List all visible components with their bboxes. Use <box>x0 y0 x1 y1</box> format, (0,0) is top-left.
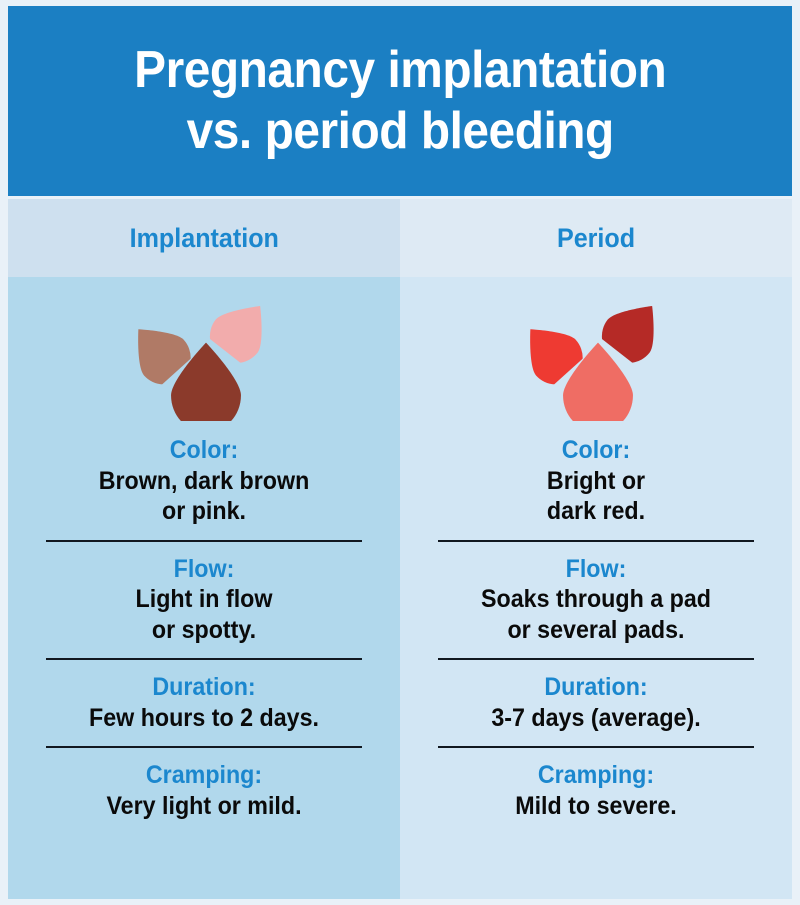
fact-label: Color: <box>50 435 359 466</box>
fact-value: 3-7 days (average). <box>442 703 751 734</box>
fact-divider <box>438 746 754 748</box>
column-implantation: Implantation <box>8 199 400 899</box>
page-title: Pregnancy implantation vs. period bleedi… <box>116 40 685 162</box>
column-header-label: Implantation <box>129 223 278 254</box>
fact-value: Bright or dark red. <box>442 466 751 527</box>
fact-label: Cramping: <box>442 760 751 791</box>
drop-salmon-red-icon <box>560 341 636 421</box>
drop-dark-brown-icon <box>168 341 244 421</box>
blood-droplets-period <box>516 299 676 427</box>
facts-list-period: Color: Bright or dark red. Flow: Soaks t… <box>430 435 762 821</box>
fact-label: Duration: <box>50 672 359 703</box>
fact-value: Mild to severe. <box>442 791 751 822</box>
fact-color: Color: Bright or dark red. <box>430 435 762 527</box>
fact-label: Flow: <box>442 554 751 585</box>
fact-divider <box>46 658 362 660</box>
fact-label: Color: <box>442 435 751 466</box>
fact-value: Brown, dark brown or pink. <box>50 466 359 527</box>
fact-flow: Flow: Light in flow or spotty. <box>38 554 370 646</box>
fact-label: Flow: <box>50 554 359 585</box>
fact-duration: Duration: 3-7 days (average). <box>430 672 762 733</box>
fact-value: Very light or mild. <box>50 791 359 822</box>
fact-value: Soaks through a pad or several pads. <box>442 584 751 645</box>
fact-divider <box>46 746 362 748</box>
fact-divider <box>46 540 362 542</box>
fact-duration: Duration: Few hours to 2 days. <box>38 672 370 733</box>
column-header-period: Period <box>400 199 792 277</box>
fact-divider <box>438 540 754 542</box>
fact-label: Duration: <box>442 672 751 703</box>
comparison-columns: Implantation <box>8 199 792 899</box>
column-period: Period <box>400 199 792 899</box>
column-body-period: Color: Bright or dark red. Flow: Soaks t… <box>400 277 792 899</box>
infographic-root: Pregnancy implantation vs. period bleedi… <box>0 0 800 905</box>
fact-cramping: Cramping: Mild to severe. <box>430 760 762 821</box>
blood-droplets-implantation <box>124 299 284 427</box>
fact-label: Cramping: <box>50 760 359 791</box>
fact-value: Few hours to 2 days. <box>50 703 359 734</box>
column-body-implantation: Color: Brown, dark brown or pink. Flow: … <box>8 277 400 899</box>
column-header-implantation: Implantation <box>8 199 400 277</box>
fact-color: Color: Brown, dark brown or pink. <box>38 435 370 527</box>
fact-flow: Flow: Soaks through a pad or several pad… <box>430 554 762 646</box>
title-banner: Pregnancy implantation vs. period bleedi… <box>8 6 792 196</box>
facts-list-implantation: Color: Brown, dark brown or pink. Flow: … <box>38 435 370 821</box>
fact-value: Light in flow or spotty. <box>50 584 359 645</box>
fact-divider <box>438 658 754 660</box>
fact-cramping: Cramping: Very light or mild. <box>38 760 370 821</box>
column-header-label: Period <box>557 223 635 254</box>
